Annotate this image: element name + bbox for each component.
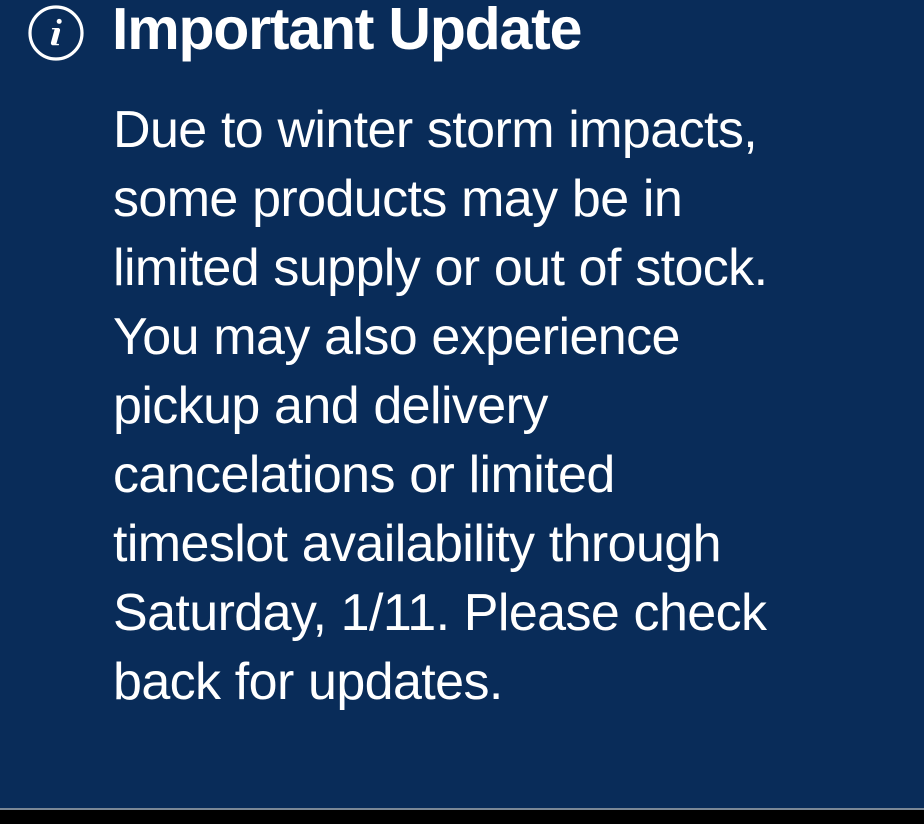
info-circle-icon	[27, 4, 85, 62]
page-title: Important Update	[112, 0, 581, 65]
important-update-banner: Important Update Due to winter storm imp…	[0, 0, 924, 809]
banner-header: Important Update	[0, 0, 924, 72]
screen: Important Update Due to winter storm imp…	[0, 0, 924, 824]
bottom-bar	[0, 810, 924, 824]
banner-body-text: Due to winter storm impacts, some produc…	[113, 96, 785, 717]
